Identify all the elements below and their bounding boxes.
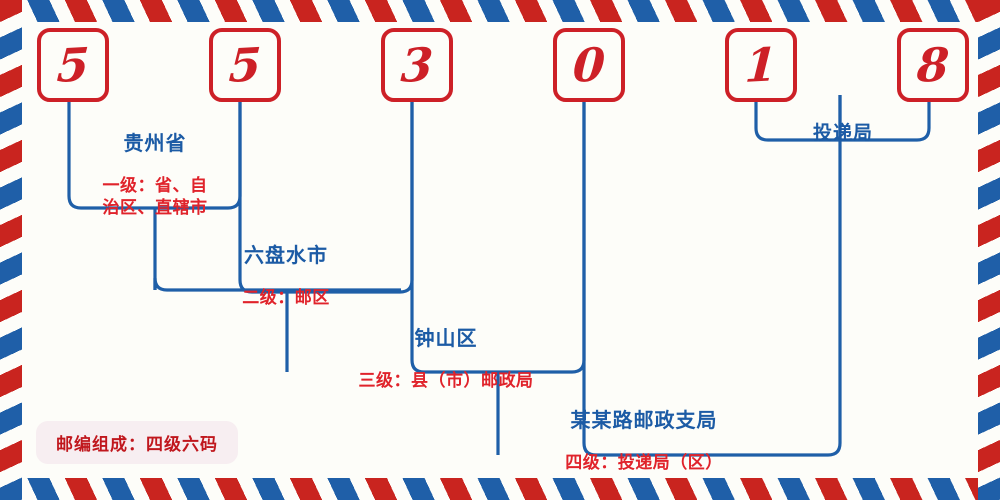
- postcode-digit-1: 5: [56, 41, 91, 89]
- postcode-digit-box-2[interactable]: 5: [209, 28, 281, 102]
- airmail-border-bottom: [0, 478, 1000, 500]
- label-delivery-bureau: 投递局: [768, 104, 918, 164]
- label-level-3-sub: 三级：县（市）邮政局: [308, 370, 584, 392]
- label-level-1-sub: 一级：省、自 治区、直辖市: [74, 175, 236, 219]
- postcode-composition-badge-text: 邮编组成：四级六码: [56, 435, 218, 455]
- postcode-digit-5: 1: [744, 41, 779, 89]
- label-level-2-title: 六盘水市: [186, 243, 386, 268]
- postcode-digit-3: 3: [400, 41, 435, 89]
- postcode-digit-box-6[interactable]: 8: [897, 28, 969, 102]
- label-level-3-title: 钟山区: [308, 326, 584, 351]
- airmail-border-left: [0, 0, 22, 500]
- envelope-postcode-diagram: 5 5 3 0 1 8 贵州省 一级：省、自 治区、直辖市 六盘水市 二级：邮区…: [0, 0, 1000, 500]
- postcode-digit-box-1[interactable]: 5: [37, 28, 109, 102]
- label-level-4-sub: 四级：投递局（区）: [506, 452, 782, 474]
- airmail-border-right: [978, 0, 1000, 500]
- postcode-digit-box-3[interactable]: 3: [381, 28, 453, 102]
- postcode-composition-badge: 邮编组成：四级六码: [36, 421, 238, 464]
- label-level-1: 贵州省 一级：省、自 治区、直辖市: [74, 113, 236, 237]
- postcode-digit-box-5[interactable]: 1: [725, 28, 797, 102]
- label-level-4: 某某路邮政支局 四级：投递局（区）: [506, 390, 782, 492]
- postcode-digit-4: 0: [572, 41, 607, 89]
- label-level-2-sub: 二级：邮区: [186, 287, 386, 309]
- airmail-border-top: [0, 0, 1000, 22]
- postcode-digit-box-4[interactable]: 0: [553, 28, 625, 102]
- label-delivery-bureau-title: 投递局: [768, 122, 918, 146]
- label-level-4-title: 某某路邮政支局: [506, 408, 782, 433]
- label-level-1-title: 贵州省: [74, 131, 236, 156]
- postcode-digit-6: 8: [916, 41, 951, 89]
- postcode-digit-2: 5: [228, 41, 263, 89]
